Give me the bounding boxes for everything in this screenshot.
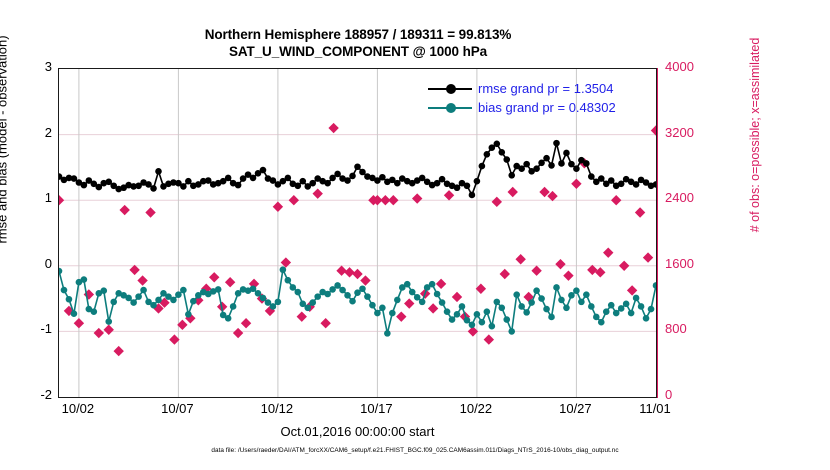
obs-marker [104, 325, 114, 335]
x-tick-10/07: 10/07 [142, 401, 212, 416]
series-point-bias [66, 296, 73, 303]
series-point-rmse [439, 176, 446, 183]
series-point-bias [364, 293, 371, 300]
series-point-rmse [309, 180, 316, 187]
series-point-bias [563, 304, 570, 311]
series-point-bias [359, 285, 366, 292]
obs-marker [619, 261, 629, 271]
series-point-bias [434, 291, 441, 298]
series-point-bias [414, 294, 421, 301]
series-point-bias [533, 287, 540, 294]
series-point-bias [270, 303, 277, 310]
x-tick-10/17: 10/17 [341, 401, 411, 416]
y-axis-label-right: # of obs: o=possible; x=assimilated [748, 0, 762, 305]
series-point-bias [489, 323, 496, 330]
obs-marker [336, 266, 346, 276]
series-point-rmse [633, 181, 640, 188]
chart-title: Northern Hemisphere 188957 / 189311 = 99… [58, 26, 658, 60]
obs-marker [241, 318, 251, 328]
series-point-bias [344, 292, 351, 299]
series-point-rmse [379, 174, 386, 181]
series-point-rmse [538, 160, 545, 167]
y-tick-left-3: 3 [6, 59, 52, 74]
series-point-bias [170, 297, 177, 304]
series-point-bias [508, 328, 515, 335]
series-point-bias [349, 298, 356, 305]
series-point-rmse [354, 163, 361, 170]
series-point-bias [304, 304, 311, 311]
series-point-bias [100, 287, 107, 294]
obs-marker [563, 270, 573, 280]
series-point-rmse [573, 165, 580, 172]
series-point-rmse [260, 167, 267, 174]
series-point-bias [155, 297, 162, 304]
obs-marker [436, 279, 446, 289]
series-point-bias [479, 319, 486, 326]
obs-marker [360, 275, 370, 285]
series-point-bias [314, 293, 321, 300]
series-point-rmse [543, 155, 550, 162]
obs-marker [74, 318, 84, 328]
series-point-bias [389, 310, 396, 317]
series-point-bias [225, 315, 232, 322]
series-point-rmse [558, 160, 565, 167]
series-point-rmse [299, 178, 306, 185]
series-point-rmse [523, 161, 530, 168]
series-point-bias [419, 299, 426, 306]
y-tick-left-2: 2 [6, 125, 52, 140]
series-point-rmse [518, 165, 525, 172]
data-file-note: data file: /Users/raeder/DAI/ATM_forcXX/… [0, 447, 830, 454]
obs-marker [555, 259, 565, 269]
series-point-bias [215, 286, 222, 293]
plot-canvas [59, 69, 656, 397]
series-point-bias [71, 310, 78, 317]
obs-marker [396, 311, 406, 321]
series-point-rmse [588, 173, 595, 180]
series-point-bias [543, 306, 550, 313]
chart-figure: Northern Hemisphere 188957 / 189311 = 99… [0, 0, 830, 470]
obs-marker [492, 197, 502, 207]
series-point-bias [110, 299, 117, 306]
series-point-bias [280, 266, 287, 273]
series-point-bias [623, 301, 630, 308]
series-point-bias [618, 305, 625, 312]
obs-marker [388, 195, 398, 205]
chart-title-line1: Northern Hemisphere 188957 / 189311 = 99… [58, 26, 658, 43]
series-point-bias [578, 299, 585, 306]
series-point-bias [230, 303, 237, 310]
series-point-bias [494, 299, 501, 306]
series-point-bias [290, 284, 297, 291]
obs-marker [500, 269, 510, 279]
series-point-bias [334, 282, 341, 289]
series-point-bias [518, 303, 525, 310]
series-point-bias [394, 297, 401, 304]
obs-marker [627, 285, 637, 295]
series-point-rmse [484, 151, 491, 158]
series-point-rmse [349, 173, 356, 180]
series-point-bias [588, 303, 595, 310]
legend-marker-rmse [446, 84, 456, 94]
series-point-rmse [583, 160, 590, 167]
series-point-bias [513, 291, 520, 298]
series-point-bias [638, 303, 645, 310]
obs-marker [344, 267, 354, 277]
series-point-bias [339, 287, 346, 294]
obs-marker [531, 266, 541, 276]
x-axis-label: Oct.01,2016 00:00:00 start [58, 424, 657, 439]
obs-marker [603, 247, 613, 257]
obs-marker [484, 334, 494, 344]
series-point-bias [608, 302, 615, 309]
x-tick-10/02: 10/02 [43, 401, 113, 416]
series-point-bias [125, 295, 132, 302]
x-tick-10/12: 10/12 [242, 401, 312, 416]
obs-marker [508, 187, 518, 197]
y-tick-left--2: -2 [6, 387, 52, 402]
series-rmse [59, 140, 656, 198]
y-tick-right-3200: 3200 [665, 125, 721, 140]
series-point-rmse [548, 162, 555, 169]
series-point-bias [369, 302, 376, 309]
series-point-rmse [498, 149, 505, 156]
series-point-bias [285, 277, 292, 284]
series-point-bias [439, 299, 446, 306]
obs-marker [571, 179, 581, 189]
series-point-rmse [618, 181, 625, 188]
series-point-bias [568, 292, 575, 299]
series-point-bias [260, 295, 267, 302]
legend-label-bias: bias grand pr = 0.48302 [478, 99, 616, 117]
series-point-bias [628, 310, 635, 317]
series-point-bias [449, 316, 456, 323]
series-point-rmse [180, 183, 187, 190]
series-point-bias [653, 282, 656, 289]
obs-marker [273, 202, 283, 212]
series-point-rmse [155, 168, 162, 175]
series-point-bias [573, 287, 580, 294]
series-point-bias [474, 311, 481, 318]
series-point-rmse [394, 180, 401, 187]
series-point-rmse [553, 140, 560, 147]
series-point-bias [558, 297, 565, 304]
y-tick-right-4000: 4000 [665, 59, 721, 74]
obs-marker [225, 277, 235, 287]
series-point-bias [180, 287, 187, 294]
series-point-rmse [359, 169, 366, 176]
series-point-rmse [235, 182, 242, 189]
series-point-bias [140, 287, 147, 294]
series-point-bias [603, 308, 610, 315]
series-point-bias [613, 310, 620, 317]
y-tick-right-2400: 2400 [665, 190, 721, 205]
series-point-bias [59, 268, 62, 275]
y-tick-left-1: 1 [6, 190, 52, 205]
obs-marker [119, 205, 129, 215]
obs-marker [233, 328, 243, 338]
y-tick-right-800: 800 [665, 321, 721, 336]
obs-marker [515, 254, 525, 264]
series-point-rmse [479, 163, 486, 170]
series-point-rmse [324, 180, 331, 187]
series-point-bias [464, 317, 471, 324]
series-point-rmse [344, 177, 351, 184]
series-point-bias [175, 291, 182, 298]
series-point-bias [309, 299, 316, 306]
series-point-rmse [185, 178, 192, 185]
obs-marker [452, 292, 462, 302]
series-point-rmse [250, 175, 257, 182]
series-point-bias [190, 298, 197, 305]
series-point-rmse [464, 182, 471, 189]
obs-marker [289, 195, 299, 205]
series-point-rmse [494, 140, 501, 147]
obs-marker [595, 267, 605, 277]
y-tick-left--1: -1 [6, 321, 52, 336]
series-point-bias [384, 330, 391, 337]
y-tick-right-0: 0 [665, 387, 721, 402]
obs-marker [145, 207, 155, 217]
legend-marker-bias [446, 103, 456, 113]
series-point-rmse [503, 156, 510, 163]
obs-marker [412, 193, 422, 203]
series-point-bias [105, 318, 112, 325]
series-point-bias [295, 289, 302, 296]
obs-marker [328, 123, 338, 133]
series-point-rmse [563, 150, 570, 157]
series-point-rmse [469, 192, 476, 199]
obs-marker [635, 207, 645, 217]
obs-marker [297, 311, 307, 321]
series-point-rmse [81, 182, 88, 189]
obs-marker [643, 252, 653, 262]
series-point-bias [135, 293, 142, 300]
series-point-bias [498, 304, 505, 311]
obs-marker [320, 318, 330, 328]
obs-marker [404, 298, 414, 308]
series-point-bias [275, 299, 282, 306]
series-point-rmse [533, 165, 540, 172]
x-tick-10/22: 10/22 [441, 401, 511, 416]
x-tick-10/27: 10/27 [540, 401, 610, 416]
series-point-rmse [454, 184, 461, 191]
series-point-bias [583, 291, 590, 298]
chart-title-line2: SAT_U_WIND_COMPONENT @ 1000 hPa [58, 43, 658, 60]
series-point-bias [454, 311, 461, 318]
series-point-bias [469, 322, 476, 329]
series-assimilated-obs [59, 123, 656, 356]
series-point-bias [553, 284, 560, 291]
obs-marker [352, 269, 362, 279]
series-point-bias [255, 290, 262, 297]
series-point-rmse [568, 161, 575, 168]
series-point-bias [91, 308, 98, 315]
series-point-bias [548, 314, 555, 321]
series-point-bias [61, 287, 68, 294]
chart-legend: rmse grand pr = 1.3504 bias grand pr = 0… [428, 80, 650, 118]
series-point-bias [484, 308, 491, 315]
series-point-bias [593, 314, 600, 321]
series-point-bias [633, 295, 640, 302]
obs-marker [611, 195, 621, 205]
series-point-bias [429, 281, 436, 288]
series-point-bias [528, 299, 535, 306]
series-point-rmse [608, 177, 615, 184]
series-point-rmse [334, 171, 341, 178]
series-point-bias [444, 308, 451, 315]
legend-label-rmse: rmse grand pr = 1.3504 [478, 80, 614, 98]
series-point-bias [538, 295, 545, 302]
series-point-bias [324, 291, 331, 298]
series-point-rmse [508, 172, 515, 179]
series-point-bias [598, 319, 605, 326]
series-point-bias [404, 281, 411, 288]
series-point-rmse [225, 175, 232, 182]
series-point-bias [409, 289, 416, 296]
series-point-bias [379, 304, 386, 311]
y-tick-right-1600: 1600 [665, 256, 721, 271]
series-point-rmse [598, 175, 605, 182]
series-point-bias [648, 306, 655, 313]
series-point-rmse [285, 175, 292, 182]
obs-marker [59, 195, 64, 205]
x-tick-11/01: 11/01 [620, 401, 690, 416]
obs-marker [209, 272, 219, 282]
y-tick-left-0: 0 [6, 256, 52, 271]
series-point-bias [130, 299, 137, 306]
obs-marker [94, 328, 104, 338]
series-point-bias [374, 310, 381, 317]
series-point-rmse [295, 182, 302, 189]
series-point-bias [643, 315, 650, 322]
series-point-bias [523, 309, 530, 316]
series-point-bias [459, 303, 466, 310]
obs-marker [137, 275, 147, 285]
obs-marker [428, 303, 438, 313]
series-point-bias [503, 316, 510, 323]
series-point-bias [150, 302, 157, 309]
series-point-bias [81, 276, 88, 283]
series-point-bias [185, 311, 192, 318]
series-point-rmse [474, 178, 481, 185]
obs-marker [444, 190, 454, 200]
obs-marker [114, 346, 124, 356]
series-point-bias [250, 285, 257, 292]
series-point-rmse [150, 185, 157, 192]
obs-marker [313, 188, 323, 198]
